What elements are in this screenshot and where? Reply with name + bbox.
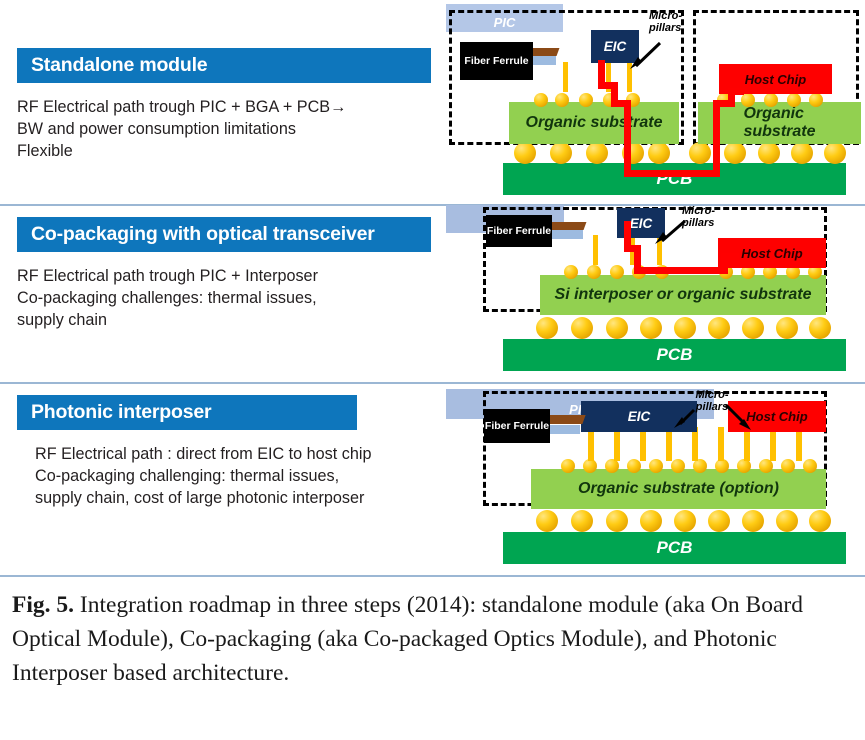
bga-ball bbox=[724, 142, 746, 164]
bga-ball bbox=[586, 142, 608, 164]
micro-ball bbox=[587, 265, 601, 279]
organic-substrate-left: Organic substrate bbox=[509, 102, 679, 144]
panel-1-text-column: Standalone module RF Electrical path tro… bbox=[17, 48, 437, 162]
panel-1-body: RF Electrical path trough PIC + BGA + PC… bbox=[17, 96, 437, 162]
panel-2-body: RF Electrical path trough PIC + Interpos… bbox=[17, 265, 437, 331]
micro-pillars-arrow-icon bbox=[651, 219, 687, 245]
micro-pillar bbox=[640, 427, 646, 461]
bga-ball bbox=[648, 142, 670, 164]
diagram-co-packaging: PCB Si interposer or organic substrate bbox=[446, 205, 861, 377]
fiber-tip bbox=[546, 425, 580, 434]
bga-ball bbox=[536, 317, 558, 339]
bga-ball bbox=[550, 142, 572, 164]
fiber-ferrule-block: Fiber Ferrule bbox=[460, 42, 533, 80]
micro-pillar bbox=[692, 427, 698, 461]
bga-ball bbox=[640, 510, 662, 532]
figure-caption-text: Integration roadmap in three steps (2014… bbox=[12, 592, 803, 686]
bga-ball bbox=[809, 317, 831, 339]
bga-ball bbox=[674, 317, 696, 339]
panel-3-text-column: Photonic interposer RF Electrical path :… bbox=[17, 395, 437, 509]
bga-ball bbox=[606, 510, 628, 532]
micro-pillar bbox=[666, 427, 672, 461]
bga-ball bbox=[776, 510, 798, 532]
micro-ball bbox=[649, 459, 663, 473]
fiber-ferrule-block: Fiber Ferrule bbox=[486, 215, 552, 247]
micro-ball bbox=[627, 459, 641, 473]
micro-pillars-arrow-left-icon bbox=[672, 407, 696, 429]
panel-co-packaging: Co-packaging with optical transceiver RF… bbox=[0, 203, 865, 381]
micro-ball bbox=[737, 459, 751, 473]
panel-photonic-interposer: Photonic interposer RF Electrical path :… bbox=[0, 381, 865, 577]
micro-ball bbox=[803, 459, 817, 473]
rf-path-segment bbox=[624, 100, 631, 176]
panel-3-title: Photonic interposer bbox=[17, 395, 357, 430]
bga-ball bbox=[674, 510, 696, 532]
bga-ball bbox=[571, 510, 593, 532]
micro-ball bbox=[561, 459, 575, 473]
micro-pillar bbox=[796, 427, 802, 461]
micro-pillar bbox=[718, 427, 724, 461]
micro-ball bbox=[759, 459, 773, 473]
micro-pillars-label: Micro- pillars bbox=[682, 205, 740, 229]
panel-divider-3 bbox=[0, 575, 865, 577]
bga-ball bbox=[742, 510, 764, 532]
rf-path-segment bbox=[634, 267, 728, 274]
micro-pillar bbox=[614, 427, 620, 461]
rf-path-segment bbox=[721, 253, 739, 260]
fiber-ferrule-block: Fiber Ferrule bbox=[484, 409, 550, 443]
micro-ball bbox=[693, 459, 707, 473]
integration-roadmap-figure: Standalone module RF Electrical path tro… bbox=[0, 0, 865, 740]
figure-caption-label: Fig. 5. bbox=[12, 592, 74, 618]
panel-1-title: Standalone module bbox=[17, 48, 431, 83]
panel-2-text-column: Co-packaging with optical transceiver RF… bbox=[17, 217, 437, 331]
rf-path-segment bbox=[624, 170, 720, 177]
bga-ball bbox=[824, 142, 846, 164]
panel-standalone-module: Standalone module RF Electrical path tro… bbox=[0, 0, 865, 203]
panel-2-title: Co-packaging with optical transceiver bbox=[17, 217, 431, 252]
micro-pillars-arrow-icon bbox=[626, 40, 662, 70]
bga-ball bbox=[708, 317, 730, 339]
diagram-photonic-interposer: PCB Organic substrate (option) bbox=[446, 389, 861, 574]
micro-ball bbox=[610, 265, 624, 279]
micro-ball bbox=[781, 459, 795, 473]
panel-3-body: RF Electrical path : direct from EIC to … bbox=[17, 443, 437, 509]
micro-ball bbox=[583, 459, 597, 473]
pcb-block: PCB bbox=[503, 532, 846, 564]
bga-ball bbox=[758, 142, 780, 164]
organic-substrate-option: Organic substrate (option) bbox=[531, 469, 826, 509]
micro-ball bbox=[564, 265, 578, 279]
rf-path-segment bbox=[728, 88, 744, 95]
micro-pillar bbox=[563, 62, 568, 92]
bga-ball bbox=[571, 317, 593, 339]
si-interposer-block: Si interposer or organic substrate bbox=[540, 275, 826, 315]
micro-ball bbox=[671, 459, 685, 473]
bga-ball bbox=[640, 317, 662, 339]
micro-ball bbox=[534, 93, 548, 107]
micro-pillars-arrow-right-icon bbox=[724, 403, 754, 431]
micro-ball bbox=[579, 93, 593, 107]
bga-ball bbox=[606, 317, 628, 339]
micro-ball bbox=[764, 93, 778, 107]
bga-ball bbox=[776, 317, 798, 339]
pcb-block: PCB bbox=[503, 163, 846, 195]
micro-ball bbox=[741, 93, 755, 107]
micro-ball bbox=[715, 459, 729, 473]
micro-pillar bbox=[593, 235, 598, 265]
micro-pillar bbox=[770, 427, 776, 461]
micro-pillar bbox=[744, 427, 750, 461]
bga-ball bbox=[708, 510, 730, 532]
rf-path-segment bbox=[713, 100, 720, 177]
pcb-block: PCB bbox=[503, 339, 846, 371]
bga-ball bbox=[742, 317, 764, 339]
micro-ball bbox=[605, 459, 619, 473]
figure-caption: Fig. 5. Integration roadmap in three ste… bbox=[12, 588, 852, 690]
micro-pillars-label: Micro- pillars bbox=[649, 10, 707, 34]
bga-ball bbox=[809, 510, 831, 532]
micro-ball bbox=[787, 93, 801, 107]
micro-ball bbox=[555, 93, 569, 107]
organic-substrate-right: Organic substrate bbox=[698, 102, 861, 144]
diagram-standalone-module: PCB Organic substrate Organic substrate bbox=[446, 4, 861, 200]
bga-ball bbox=[791, 142, 813, 164]
fiber-tip bbox=[551, 230, 583, 239]
bga-ball bbox=[536, 510, 558, 532]
bga-ball bbox=[689, 142, 711, 164]
micro-ball bbox=[809, 93, 823, 107]
bga-ball bbox=[514, 142, 536, 164]
micro-pillar bbox=[588, 427, 594, 461]
